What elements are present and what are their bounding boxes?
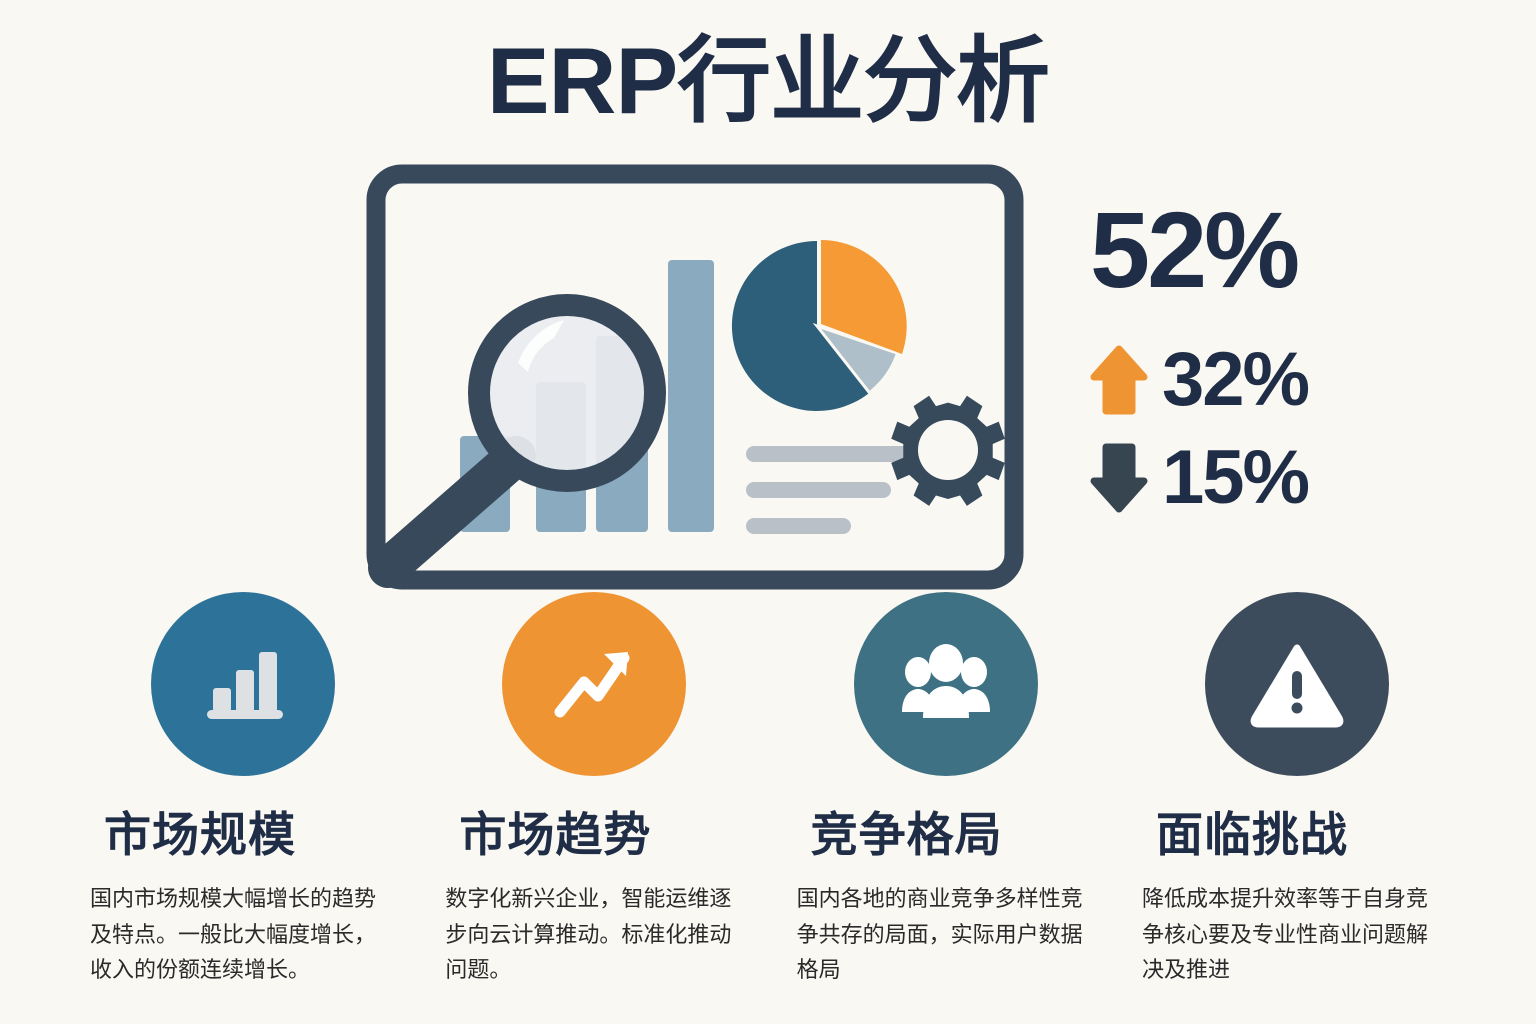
circle-wrap <box>1132 592 1462 776</box>
bar-chart-icon <box>195 636 291 732</box>
column-competitive-landscape: 竞争格局 国内各地的商业竞争多样性竞争共存的局面，实际用户数据格局 <box>781 592 1111 1012</box>
icon-circle-challenges[interactable] <box>1205 592 1389 776</box>
column-body: 国内各地的商业竞争多样性竞争共存的局面，实际用户数据格局 <box>781 881 1093 988</box>
column-title: 市场趋势 <box>429 796 759 865</box>
icon-circle-market-size[interactable] <box>151 592 335 776</box>
column-title: 市场规模 <box>78 796 408 865</box>
stat-row-up: 32% <box>1090 342 1430 418</box>
stat-row-down: 15% <box>1090 440 1430 516</box>
icon-circle-market-trend[interactable] <box>502 592 686 776</box>
column-body: 降低成本提升效率等于自身竞争核心要及专业性商业问题解决及推进 <box>1132 881 1444 988</box>
column-title: 竞争格局 <box>781 796 1111 865</box>
stats-block: 52% 32% 15% <box>1090 196 1430 516</box>
feature-columns: 市场规模 国内市场规模大幅增长的趋势及特点。一般比大幅度增长，收入的份额连续增长… <box>78 592 1462 1012</box>
stat-headline: 52% <box>1090 196 1430 304</box>
text-line-3 <box>746 518 851 534</box>
trending-up-icon <box>546 636 642 732</box>
column-title: 面临挑战 <box>1132 796 1462 865</box>
text-line-2 <box>746 482 891 498</box>
circle-wrap <box>429 592 759 776</box>
column-body: 国内市场规模大幅增长的趋势及特点。一般比大幅度增长，收入的份额连续增长。 <box>78 881 390 988</box>
column-market-size: 市场规模 国内市场规模大幅增长的趋势及特点。一般比大幅度增长，收入的份额连续增长… <box>78 592 408 1012</box>
circle-wrap <box>781 592 1111 776</box>
arrow-down-icon <box>1090 443 1148 513</box>
hero-illustration <box>368 168 1038 598</box>
page-title: ERP行业分析 <box>0 26 1536 137</box>
stat-value-up: 32% <box>1162 342 1308 418</box>
warning-triangle-icon <box>1247 638 1347 730</box>
infographic-page: ERP行业分析 <box>0 0 1536 1024</box>
column-challenges: 面临挑战 降低成本提升效率等于自身竞争核心要及专业性商业问题解决及推进 <box>1132 592 1462 1012</box>
people-group-icon <box>896 636 996 732</box>
stat-value-down: 15% <box>1162 440 1308 516</box>
circle-wrap <box>78 592 408 776</box>
bar-4 <box>668 260 714 532</box>
icon-circle-competition[interactable] <box>854 592 1038 776</box>
column-market-trend: 市场趋势 数字化新兴企业，智能运维逐步向云计算推动。标准化推动问题。 <box>429 592 759 1012</box>
column-body: 数字化新兴企业，智能运维逐步向云计算推动。标准化推动问题。 <box>429 881 741 988</box>
text-line-1 <box>746 446 916 462</box>
arrow-up-icon <box>1090 345 1148 415</box>
